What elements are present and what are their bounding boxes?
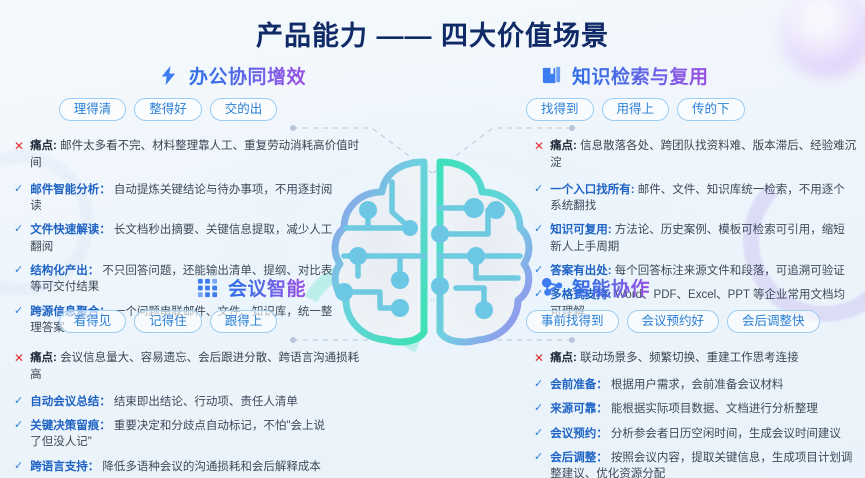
quadrant-title: 智能协作 [572, 274, 650, 301]
feature-item: ✓ 来源可靠： 能根据实际项目数据、文档进行分析整理 [534, 401, 864, 417]
quadrant-header: 办公协同增效 [14, 60, 366, 90]
feature-name: 邮件智能分析： [30, 184, 111, 196]
grid-squares-icon [196, 276, 219, 299]
feature-item: ✓ 邮件智能分析： 自动提炼关键结论与待办事项，不用逐封阅读 [14, 182, 366, 215]
check-icon: ✓ [534, 222, 543, 237]
feature-item: ✓ 一个入口找所有: 邮件、文件、知识库统一检索，不用逐个系统翻找 [534, 182, 864, 215]
feature-name: 会后调整： [550, 452, 608, 464]
feature-desc: 能根据实际项目数据、文档进行分析整理 [611, 403, 818, 415]
chip[interactable]: 跟得上 [210, 310, 278, 333]
feature-name: 关键决策留痕： [30, 420, 111, 432]
chip[interactable]: 看得见 [59, 310, 127, 333]
chip[interactable]: 整得好 [134, 98, 202, 121]
pain-point-label: 痛点: [30, 140, 57, 152]
feature-item: ✓ 自动会议总结： 结束即出结论、行动项、责任人清单 [14, 394, 366, 410]
check-icon: ✓ [14, 418, 23, 433]
chip[interactable]: 会议预约好 [627, 310, 720, 333]
page-title: 产品能力 —— 四大价值场景 [0, 14, 865, 53]
book-icon [540, 64, 563, 87]
pain-point-text: 会议信息量大、容易遗忘、会后跟进分散、跨语言沟通损耗高 [30, 352, 359, 381]
pain-point-text: 信息散落各处、跨团队找资料难、版本滞后、经验难沉淀 [550, 140, 856, 169]
check-icon: ✓ [534, 450, 543, 465]
quadrant-header: 智能协作 [512, 272, 864, 302]
chip[interactable]: 会后调整快 [727, 310, 820, 333]
feature-name: 会议预约： [550, 428, 608, 440]
pain-point-row: ✕ 痛点: 邮件太多看不完、材料整理靠人工、重复劳动消耗高价值时间 [14, 138, 366, 171]
check-icon: ✓ [14, 459, 23, 474]
quadrant-meeting-intelligence: 会议智能 看得见 记得住 跟得上 ✕ 痛点: 会议信息量大、容易遗忘、会后跟进分… [14, 272, 366, 478]
check-icon: ✓ [534, 377, 543, 392]
pain-point-row: ✕ 痛点: 联动场景多、频繁切换、重建工作思考连接 [512, 350, 864, 367]
chip-row: 理得清 整得好 交的出 [14, 98, 366, 121]
quadrant-title: 会议智能 [228, 274, 306, 301]
pain-point-row: ✕ 痛点: 信息散落各处、跨团队找资料难、版本滞后、经验难沉淀 [512, 138, 864, 171]
check-icon: ✓ [534, 401, 543, 416]
feature-list: ✓ 自动会议总结： 结束即出结论、行动项、责任人清单 ✓ 关键决策留痕： 重要决… [14, 394, 366, 478]
feature-name: 自动会议总结： [30, 396, 111, 408]
cross-icon: ✕ [14, 138, 24, 154]
quadrant-header: 知识检索与复用 [512, 60, 864, 90]
check-icon: ✓ [14, 222, 23, 237]
feature-name: 知识可复用: [550, 224, 611, 236]
quadrant-title: 知识检索与复用 [572, 62, 709, 89]
feature-item: ✓ 关键决策留痕： 重要决定和分歧点自动标记，不怕"会上说了但没人记" [14, 418, 366, 451]
cross-icon: ✕ [14, 350, 24, 366]
pain-point-text: 联动场景多、频繁切换、重建工作思考连接 [580, 352, 799, 364]
chip[interactable]: 传的下 [677, 98, 745, 121]
pain-point-label: 痛点: [30, 352, 57, 364]
slide-canvas: 办公协同增效 理得清 整得好 交的出 ✕ 痛点: 邮件太多看不完、材料整理靠人工… [0, 0, 865, 478]
feature-item: ✓ 会前准备： 根据用户需求，会前准备会议材料 [534, 377, 864, 393]
feature-item: ✓ 文件快速解读： 长文档秒出摘要、关键信息提取，减少人工翻阅 [14, 222, 366, 255]
check-icon: ✓ [534, 426, 543, 441]
feature-desc: 根据用户需求，会前准备会议材料 [611, 379, 784, 391]
lightning-bolt-icon [157, 64, 180, 87]
feature-list: ✓ 会前准备： 根据用户需求，会前准备会议材料 ✓ 来源可靠： 能根据实际项目数… [512, 377, 864, 478]
cross-icon: ✕ [534, 138, 544, 154]
feature-item: ✓ 会后调整： 按照会议内容，提取关键信息，生成项目计划调整建议、优化资源分配 [534, 450, 864, 478]
chip[interactable]: 事前找得到 [526, 310, 619, 333]
feature-item: ✓ 会议预约： 分析参会者日历空闲时间，生成会议时间建议 [534, 426, 864, 442]
chip-row: 事前找得到 会议预约好 会后调整快 [512, 310, 864, 333]
feature-name: 会前准备： [550, 379, 608, 391]
check-icon: ✓ [534, 182, 543, 197]
feature-name: 跨语言支持： [30, 461, 99, 473]
quadrant-title: 办公协同增效 [189, 62, 306, 89]
cross-icon: ✕ [534, 350, 544, 366]
check-icon: ✓ [14, 394, 23, 409]
chip[interactable]: 理得清 [59, 98, 127, 121]
chip-row: 看得见 记得住 跟得上 [14, 310, 366, 333]
chip-row: 找得到 用得上 传的下 [512, 98, 864, 121]
pain-point-row: ✕ 痛点: 会议信息量大、容易遗忘、会后跟进分散、跨语言沟通损耗高 [14, 350, 366, 383]
chip[interactable]: 交的出 [210, 98, 278, 121]
feature-desc: 降低多语种会议的沟通损耗和会后解释成本 [102, 461, 321, 473]
feature-name: 文件快速解读： [30, 224, 111, 236]
feature-desc: 结束即出结论、行动项、责任人清单 [114, 396, 298, 408]
feature-item: ✓ 知识可复用: 方法论、历史案例、模板可检索可引用，缩短新人上手周期 [534, 222, 864, 255]
chip[interactable]: 找得到 [526, 98, 594, 121]
feature-name: 一个入口找所有: [550, 184, 634, 196]
chip[interactable]: 记得住 [134, 310, 202, 333]
feature-desc: 分析参会者日历空闲时间，生成会议时间建议 [611, 428, 841, 440]
feature-name: 来源可靠： [550, 403, 608, 415]
pain-point-label: 痛点: [550, 352, 577, 364]
quadrant-intelligent-collaboration: 智能协作 事前找得到 会议预约好 会后调整快 ✕ 痛点: 联动场景多、频繁切换、… [512, 272, 864, 478]
check-icon: ✓ [14, 182, 23, 197]
quadrant-header: 会议智能 [14, 272, 366, 302]
pain-point-label: 痛点: [550, 140, 577, 152]
share-nodes-icon [540, 276, 563, 299]
feature-item: ✓ 跨语言支持： 降低多语种会议的沟通损耗和会后解释成本 [14, 459, 366, 475]
chip[interactable]: 用得上 [602, 98, 670, 121]
pain-point-text: 邮件太多看不完、材料整理靠人工、重复劳动消耗高价值时间 [30, 140, 359, 169]
